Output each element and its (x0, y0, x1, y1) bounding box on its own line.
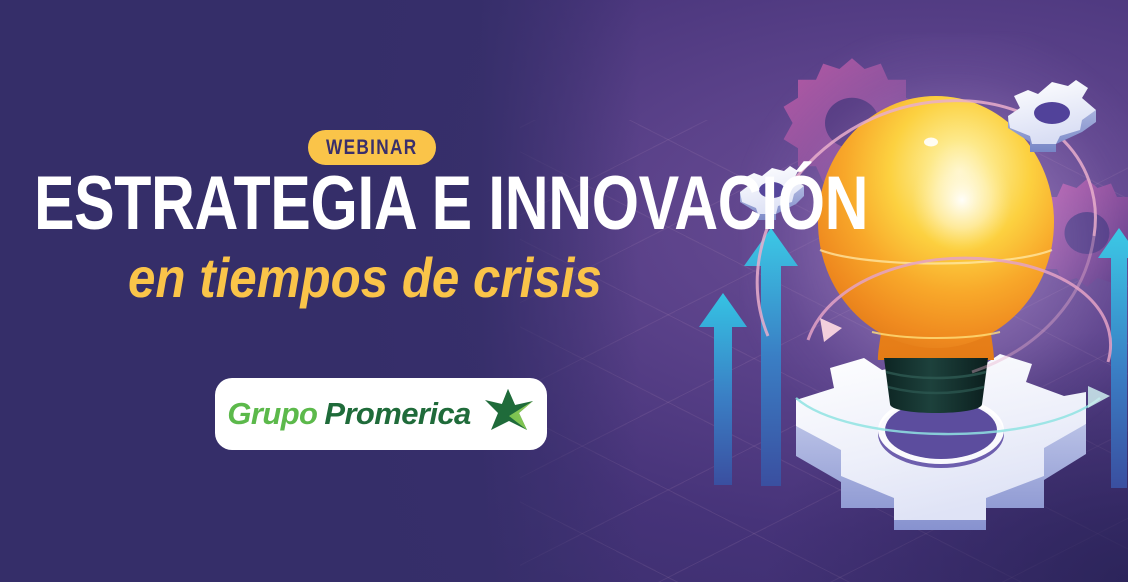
webinar-badge: WEBINAR (308, 130, 436, 165)
star-icon (483, 386, 535, 443)
gear-medium-icon (1000, 76, 1104, 162)
arrow-up-icon (1096, 228, 1128, 488)
webinar-badge-label: WEBINAR (326, 136, 417, 160)
logo-word-grupo: Grupo (227, 396, 317, 432)
headline: ESTRATEGIA E INNOVACIÓN (34, 168, 642, 241)
logo-word-promerica: Promerica (324, 396, 470, 432)
subheadline: en tiempos de crisis (128, 250, 602, 306)
webinar-banner: WEBINAR ESTRATEGIA E INNOVACIÓN en tiemp… (0, 0, 1128, 582)
logo-card: Grupo Promerica (215, 378, 547, 450)
